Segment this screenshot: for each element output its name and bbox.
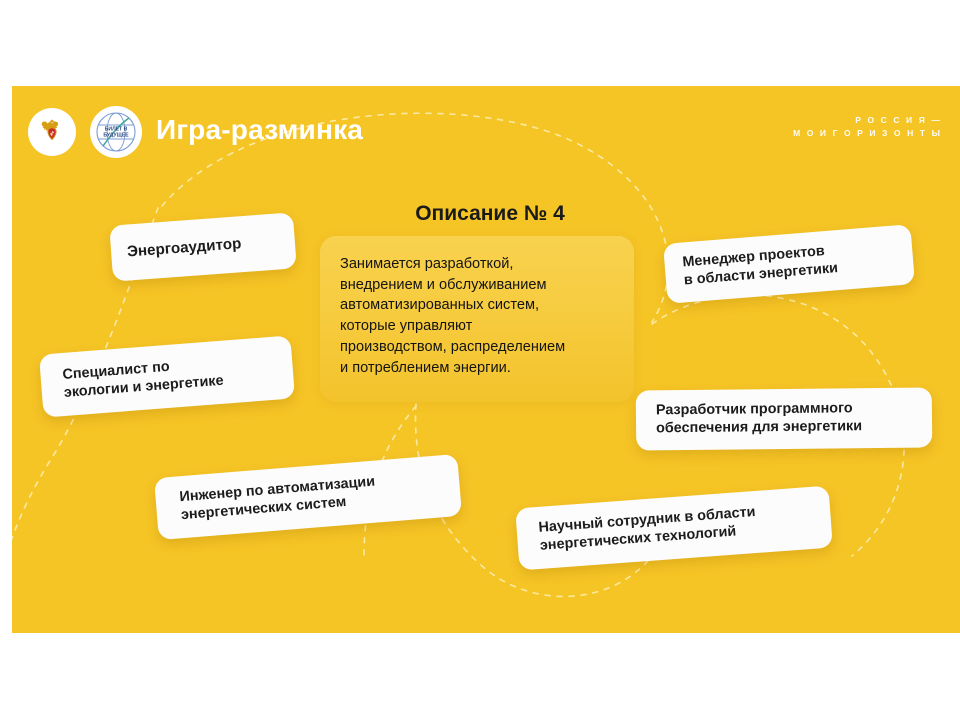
answer-card-label: Энергоаудитор: [127, 235, 242, 262]
answer-card-label: Менеджер проектов в области энергетики: [682, 242, 839, 290]
slide-header: БИЛЕТ В БУДУЩЕЕ Игра-разминка Р О С С И …: [12, 86, 960, 178]
answer-card-manager[interactable]: Менеджер проектов в области энергетики: [663, 224, 915, 304]
svg-text:БУДУЩЕЕ: БУДУЩЕЕ: [103, 132, 129, 138]
brand-line-1: Р О С С И Я —: [793, 114, 942, 127]
page-title: Игра-разминка: [156, 114, 363, 146]
description-heading: Описание № 4: [310, 202, 670, 226]
slide-frame: БИЛЕТ В БУДУЩЕЕ Игра-разминка Р О С С И …: [0, 0, 960, 720]
answer-card-engineer[interactable]: Инженер по автоматизации энергетических …: [154, 454, 462, 540]
answer-card-scientist[interactable]: Научный сотрудник в области энергетическ…: [515, 486, 833, 571]
brand-lockup: Р О С С И Я — М О И Г О Р И З О Н Т Ы: [793, 114, 942, 140]
brand-line-2: М О И Г О Р И З О Н Т Ы: [793, 127, 942, 140]
description-card: Занимается разработкой, внедрением и обс…: [320, 236, 634, 402]
bilet-v-budushchee-globe-icon: БИЛЕТ В БУДУЩЕЕ: [90, 106, 142, 158]
answer-card-developer[interactable]: Разработчик программного обеспечения для…: [636, 387, 933, 450]
slide-canvas: БИЛЕТ В БУДУЩЕЕ Игра-разминка Р О С С И …: [12, 86, 960, 633]
answer-card-energoauditor[interactable]: Энергоаудитор: [109, 212, 297, 281]
answer-card-ecology[interactable]: Специалист по экологии и энергетике: [39, 335, 295, 417]
answer-card-label: Специалист по экологии и энергетике: [62, 354, 224, 402]
answer-card-label: Научный сотрудник в области энергетическ…: [538, 504, 757, 556]
description-text: Занимается разработкой, внедрением и обс…: [340, 254, 614, 378]
answer-card-label: Инженер по автоматизации энергетических …: [179, 474, 377, 525]
answer-card-label: Разработчик программного обеспечения для…: [656, 400, 862, 438]
russian-coat-of-arms-icon: [28, 108, 76, 156]
